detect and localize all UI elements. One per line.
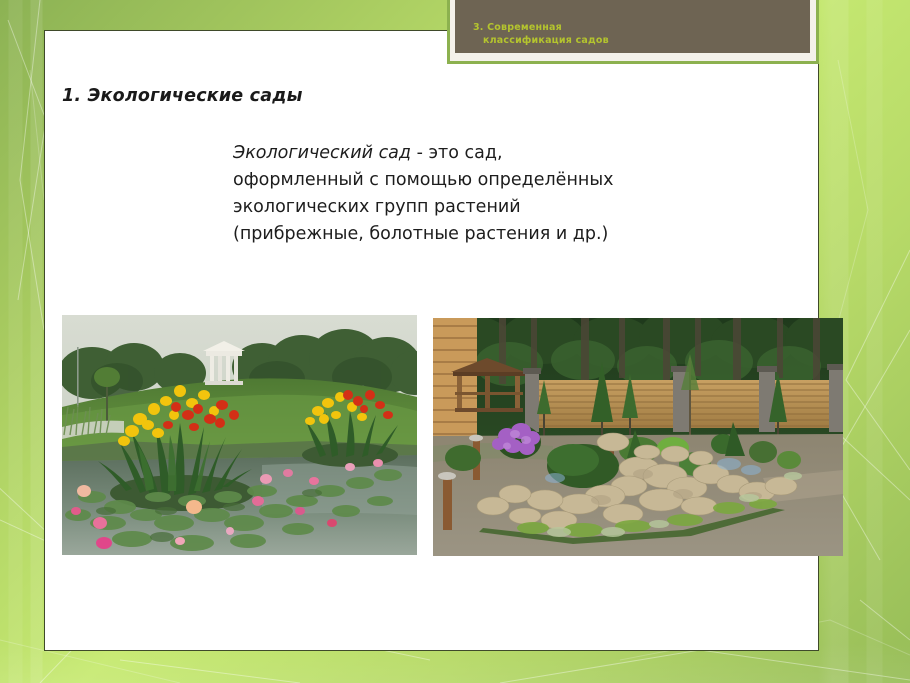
page-title: 1. Экологические сады [62,86,303,106]
section-banner-line1: 3. Современная [473,22,562,33]
section-banner-line2: классификация садов [473,34,609,47]
body-paragraph: Экологический сад - это сад, оформленный… [233,140,633,248]
pond-garden-photo [62,315,417,555]
section-banner-text: 3. Современнаяклассификация садов [473,21,609,47]
rock-garden-photo [433,318,843,556]
body-emphasis: Экологический сад [233,143,411,163]
section-banner: 3. Современнаяклассификация садов [455,0,810,53]
presentation-slide: 3. Современнаяклассификация садов 1. Эко… [0,0,910,683]
